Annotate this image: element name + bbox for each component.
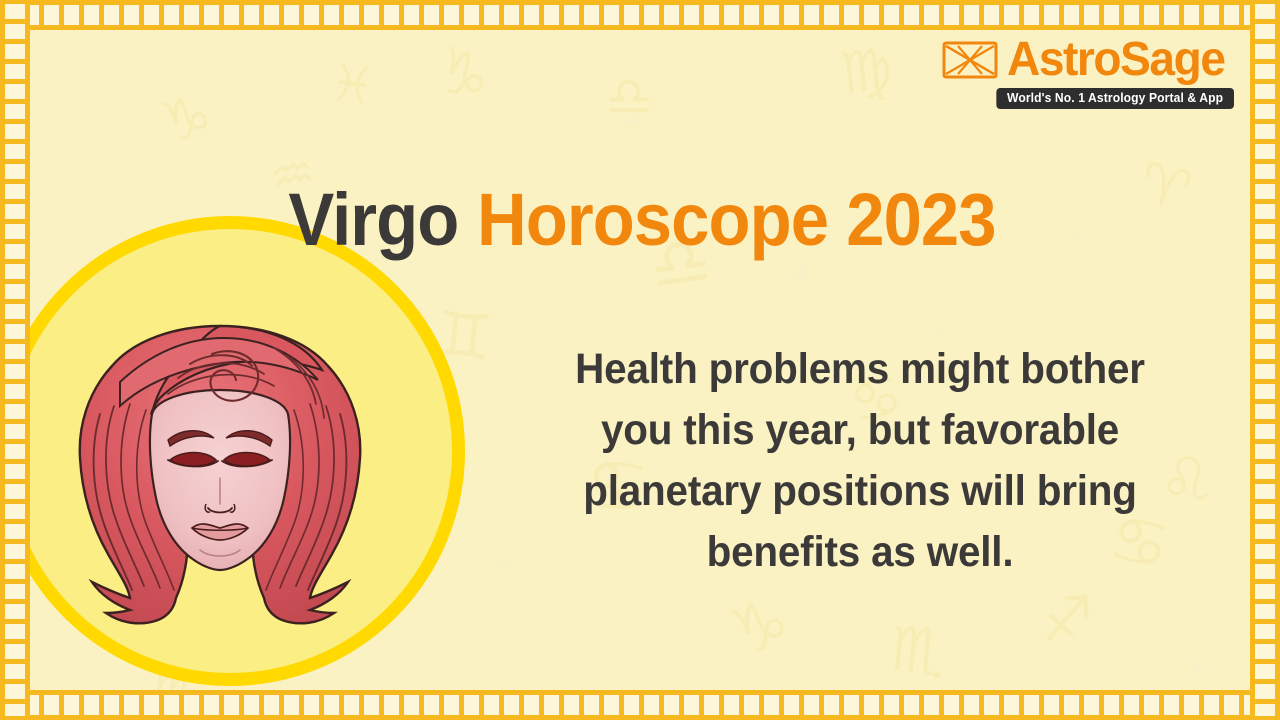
- title-sign: Virgo: [288, 177, 458, 262]
- description-line: planetary positions will bring: [526, 461, 1193, 522]
- border-band-top: [0, 0, 1280, 30]
- border-band-bottom: [0, 690, 1280, 720]
- horoscope-description: Health problems might bother you this ye…: [526, 339, 1193, 583]
- logo-row: AstroSage: [942, 36, 1234, 84]
- watermark-libra-icon: ♎: [605, 70, 653, 124]
- watermark-capricorn-icon: ♑: [155, 85, 218, 153]
- astrosage-logo[interactable]: AstroSage World's No. 1 Astrology Portal…: [942, 36, 1234, 109]
- watermark-virgo-icon: ♍: [837, 39, 895, 102]
- watermark-dot: [850, 645, 856, 651]
- description-line: Health problems might bother: [526, 339, 1193, 400]
- border-perforations-left: [5, 4, 25, 716]
- watermark-capricorn-icon: ♑: [427, 37, 499, 113]
- brand-name: AstroSage: [1007, 36, 1225, 84]
- description-line: you this year, but favorable: [526, 400, 1193, 461]
- watermark-dot: [670, 140, 676, 146]
- watermark-capricorn-icon: ♑: [722, 588, 797, 668]
- watermark-dot: [1070, 235, 1076, 241]
- page-title: Virgo Horoscope 2023: [261, 180, 1024, 260]
- virgo-maiden-face-illustration: [60, 318, 380, 648]
- watermark-pisces-icon: ♓: [327, 57, 378, 113]
- watermark-aries-icon: ♈: [1134, 155, 1196, 221]
- watermark-star-icon: ✦: [1185, 655, 1208, 683]
- border-perforations-top: [4, 5, 1276, 25]
- border-perforations-right: [1255, 4, 1275, 716]
- border-perforations-bottom: [4, 695, 1276, 715]
- watermark-star-icon: ✦: [790, 260, 815, 290]
- watermark-dot: [935, 330, 942, 337]
- description-line: benefits as well.: [526, 522, 1193, 583]
- brand-tagline: World's No. 1 Astrology Portal & App: [997, 88, 1234, 109]
- watermark-scorpio-icon: ♏: [887, 617, 949, 684]
- title-rest: Horoscope 2023: [477, 177, 996, 262]
- watermark-sagittarius-icon: ♐: [1038, 588, 1096, 652]
- horoscope-poster: ♑ ♓ ♑ ♍ ♎ ✦ ♎ ✦ ♊ ♈ ♌ ♋ ♋ ♋ ♑ ♏ ♐ ✦ ✦ ♒ …: [0, 0, 1280, 720]
- watermark-dot: [500, 560, 507, 567]
- border-band-left: [0, 0, 30, 720]
- border-band-right: [1250, 0, 1280, 720]
- watermark-star-icon: ✦: [622, 110, 644, 136]
- astrosage-crosshatch-mark-icon: [942, 40, 998, 80]
